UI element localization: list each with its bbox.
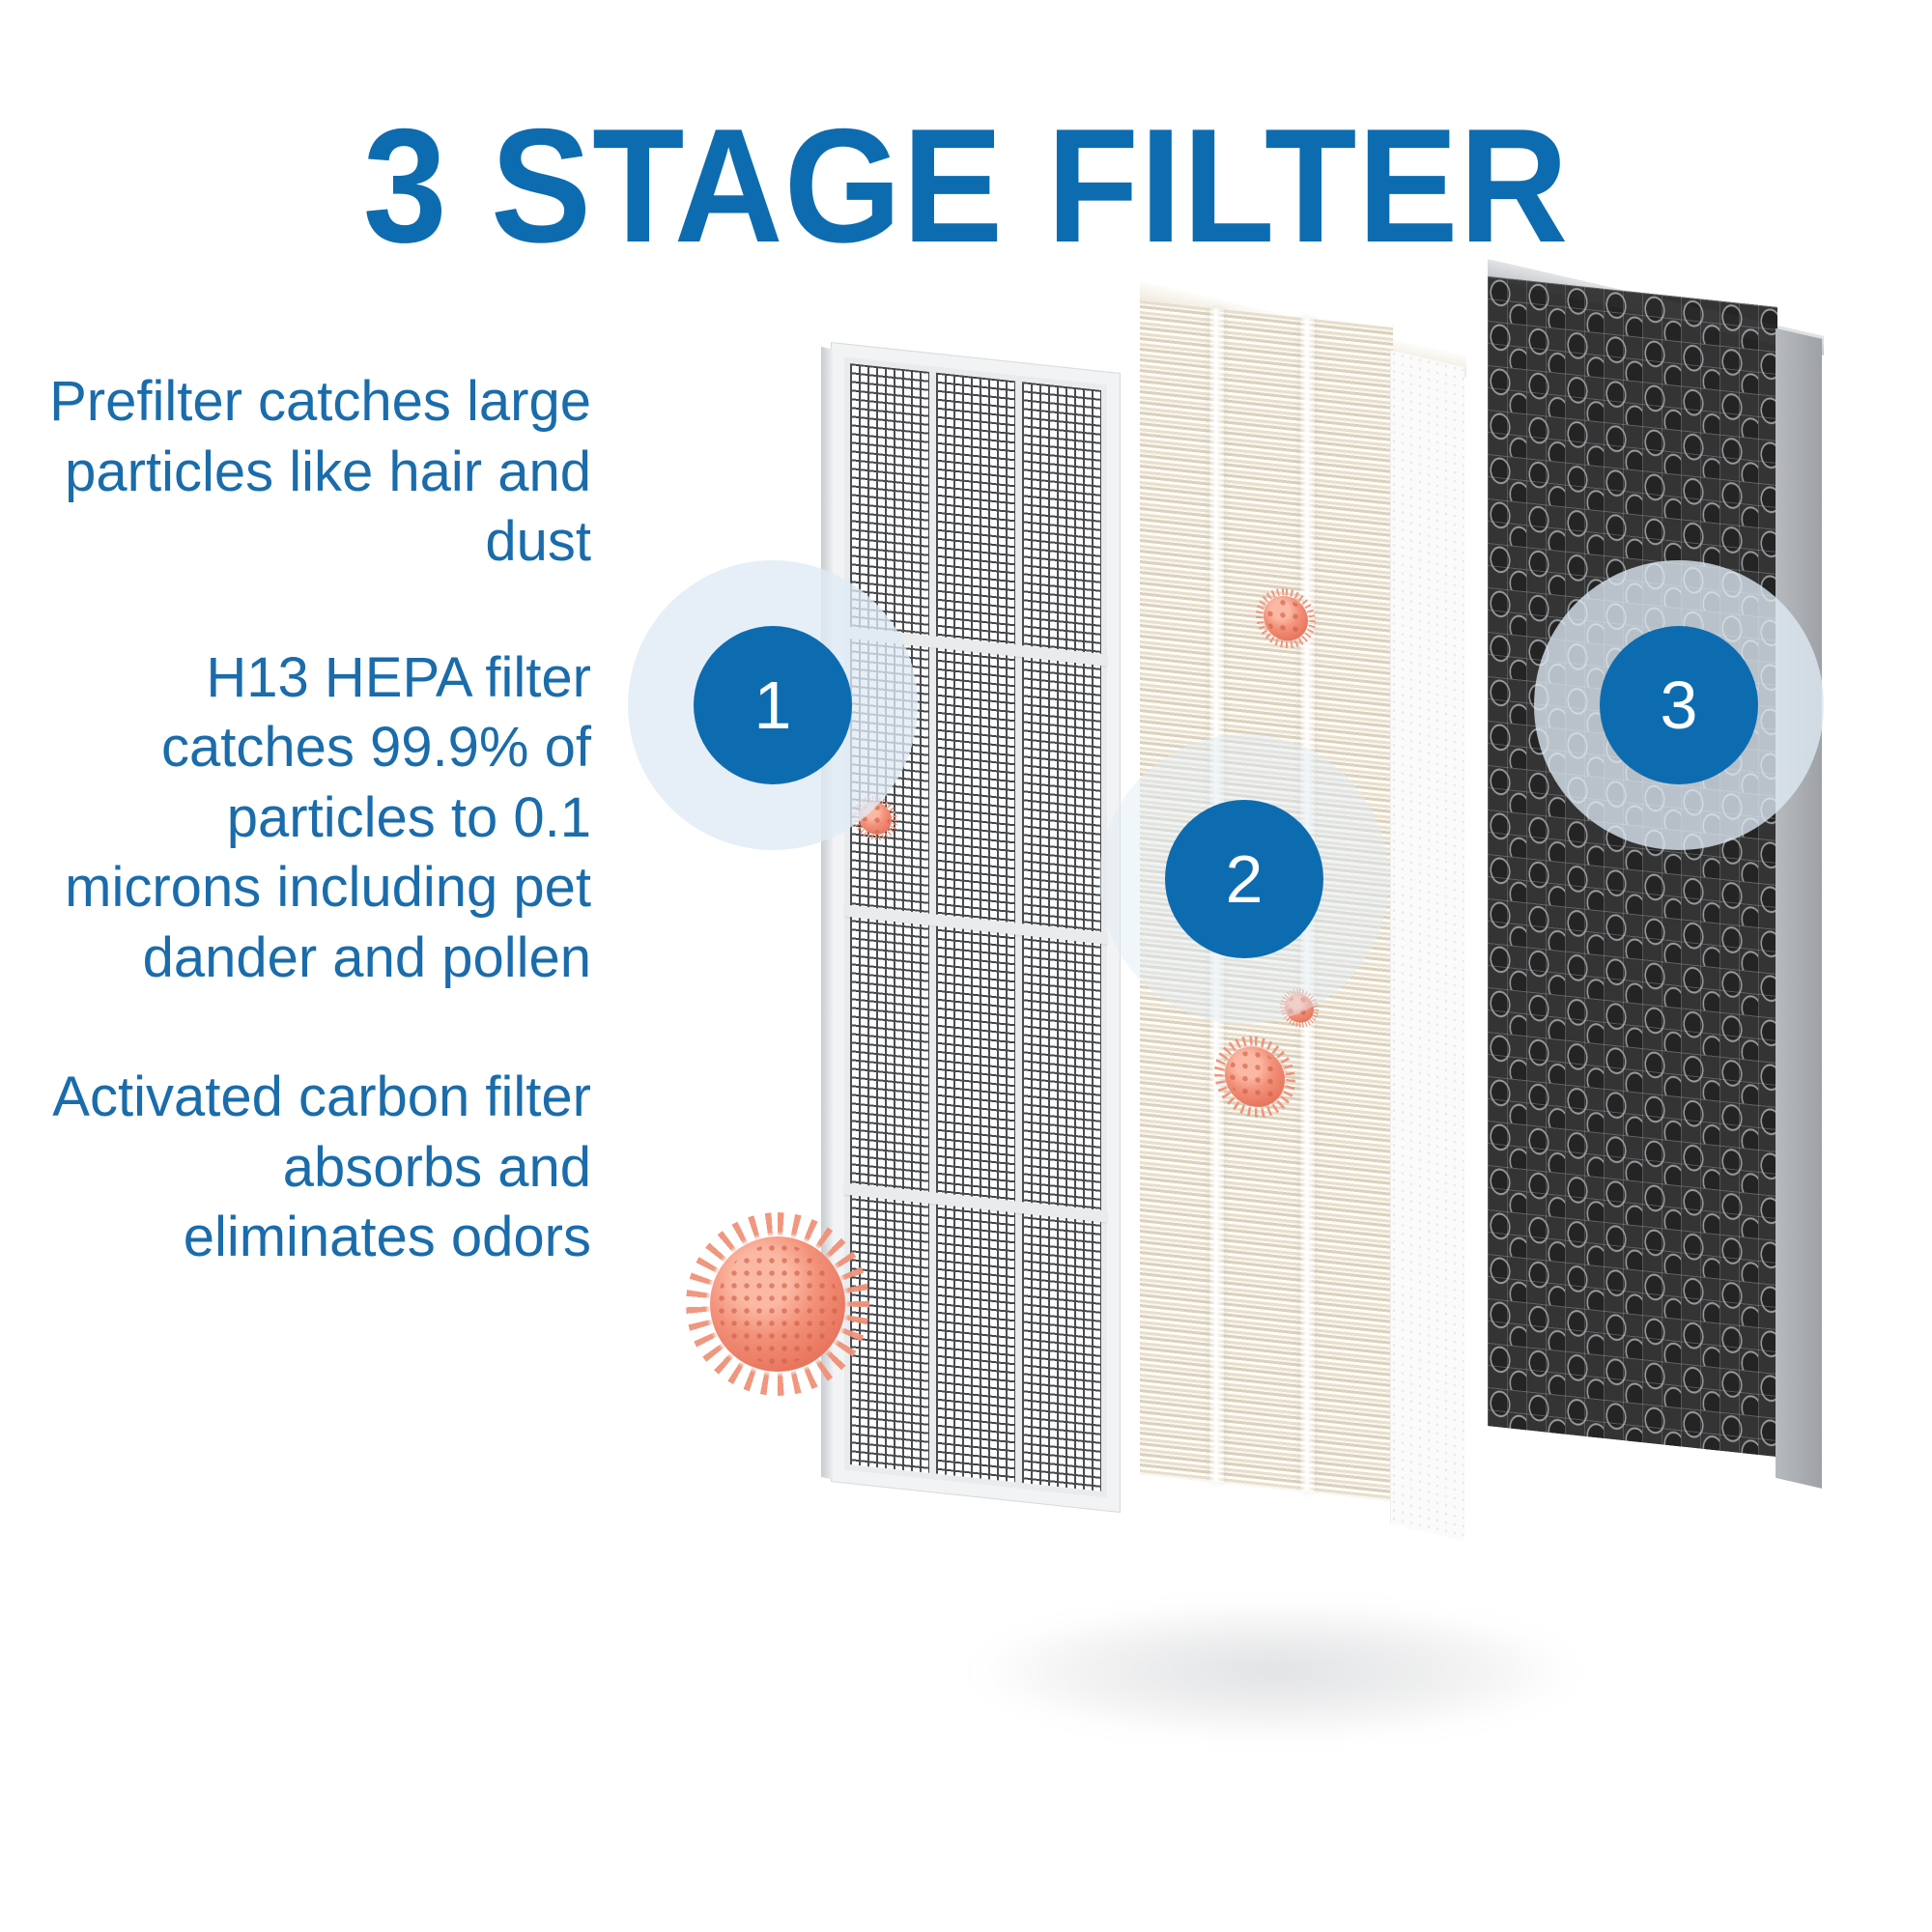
carbon-filter-panel — [1488, 276, 1777, 1457]
page-title: 3 STAGE FILTER — [68, 104, 1864, 267]
stage-badge-2[interactable]: 2 — [1165, 800, 1323, 958]
stage-badge-1-group: 1 — [628, 560, 947, 850]
particle-pollen-hepa-low — [1225, 1043, 1285, 1110]
carbon-filter-side-edge — [1776, 328, 1822, 1489]
feature-description-carbon: Activated carbon filter absorbs and elim… — [39, 1063, 591, 1273]
feature-description-prefilter: Prefilter catches large particles like h… — [39, 367, 591, 578]
infographic-canvas: 3 STAGE FILTER Prefilter catches large p… — [0, 0, 1932, 1932]
stage-badge-2-group: 2 — [1099, 734, 1418, 1024]
feature-description-hepa: H13 HEPA filter catches 99.9% of particl… — [39, 643, 591, 994]
carbon-grid-overlay — [1488, 276, 1777, 1457]
pollen-pores — [718, 1244, 837, 1363]
prefilter-panel — [831, 342, 1121, 1513]
feature-text-column: Prefilter catches large particles like h… — [39, 367, 591, 1273]
stage-badge-3[interactable]: 3 — [1600, 626, 1758, 784]
particle-pollen-hepa-top — [1264, 594, 1308, 643]
filter-stack-illustration: 1 2 3 — [821, 319, 1845, 1690]
particle-pollen-large — [710, 1236, 845, 1372]
stage-badge-1[interactable]: 1 — [694, 626, 852, 784]
stage-badge-3-group: 3 — [1534, 560, 1853, 850]
